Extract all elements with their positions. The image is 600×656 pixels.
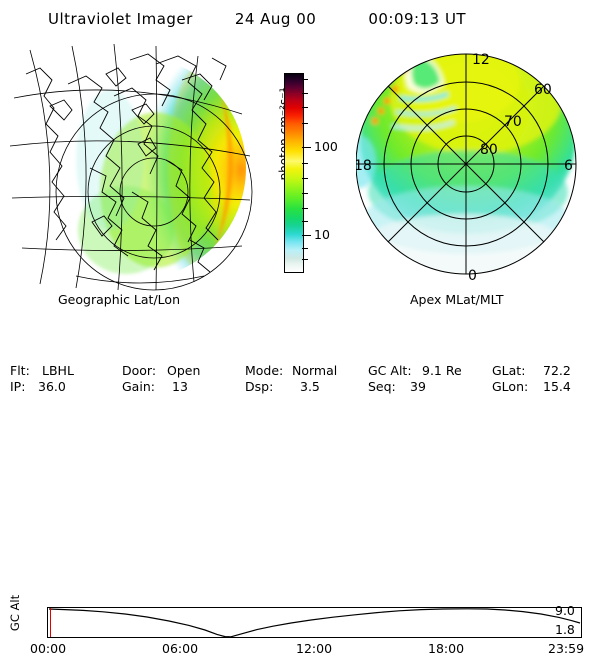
mlt-label-12: 12 [472,52,490,68]
colorbar-minor-tick [302,79,308,80]
altitude-xtick-0600: 06:00 [162,641,198,656]
status-label-gain: Gain: [122,379,155,394]
status-label-gcalt: GC Alt: [368,363,412,378]
mlt-label-0: 0 [468,268,477,284]
status-row: IP: 36.0 Gain: 13 Dsp: 3.5 Seq: 39 GLon:… [0,379,600,395]
status-value-seq: 39 [410,379,426,394]
altitude-xtick-2359: 23:59 [548,641,584,656]
colorbar-tick-10 [302,235,311,236]
status-label-flt: Flt: [10,363,30,378]
instrument-title: Ultraviolet Imager [48,10,193,28]
colorbar-minor-tick [302,163,308,164]
status-value-glat: 72.2 [543,363,571,378]
apex-polar-panel[interactable]: 12 18 6 0 60 70 80 [356,42,596,292]
status-value-door: Open [167,363,200,378]
status-row: Flt: LBHL Door: Open Mode: Normal GC Alt… [0,363,600,379]
status-label-mode: Mode: [245,363,283,378]
status-value-glon: 15.4 [543,379,571,394]
current-time-marker [50,608,51,637]
colorbar-minor-tick [302,178,308,179]
altitude-xtick-1800: 18:00 [428,641,464,656]
colorbar-minor-tick [302,93,308,94]
status-label-glat: GLat: [492,363,525,378]
colorbar-tick-label-10: 10 [314,229,330,242]
altitude-orbit-panel[interactable]: GC Alt 9.0 1.8 00:00 06:00 12:00 18:00 2… [0,300,600,358]
status-value-gcalt: 9.1 Re [422,363,462,378]
colorbar-minor-tick [302,123,308,124]
altitude-xtick-1200: 12:00 [296,641,332,656]
status-value-dsp: 3.5 [300,379,320,394]
observation-time: 00:09:13 UT [368,10,466,28]
mlat-label-80: 80 [480,142,498,158]
colorbar-tick-100 [302,147,311,148]
status-label-glon: GLon: [492,379,528,394]
colorbar-minor-tick [302,107,308,108]
mlat-label-70: 70 [504,114,522,130]
colorbar-minor-tick [302,193,308,194]
geographic-image-svg [6,40,264,292]
colorbar-minor-tick [302,259,308,260]
status-label-dsp: Dsp: [245,379,273,394]
colorbar-minor-tick [302,248,308,249]
colorbar-tick-label-100: 100 [314,141,338,154]
status-label-door: Door: [122,363,156,378]
status-label-seq: Seq: [368,379,396,394]
colorbar-minor-tick [302,221,308,222]
status-block: Flt: LBHL Door: Open Mode: Normal GC Alt… [0,363,600,397]
colorbar-minor-tick [302,208,308,209]
status-value-flt: LBHL [42,363,74,378]
altitude-xtick-0000: 00:00 [30,641,66,656]
altitude-curve [47,607,582,638]
status-value-gain: 13 [172,379,188,394]
colorbar-gradient[interactable] [284,73,304,273]
apex-polar-svg: 12 18 6 0 60 70 80 [356,42,596,292]
header-bar: Ultraviolet Imager 24 Aug 00 00:09:13 UT [0,6,600,32]
altitude-axis-label: GC Alt [8,587,22,639]
status-value-ip: 36.0 [38,379,66,394]
colorbar-group[interactable]: photon cm⁻²s⁻¹ 100 10 [262,45,354,295]
mlt-label-18: 18 [356,158,372,174]
mlt-label-6: 6 [564,158,573,174]
status-value-mode: Normal [292,363,337,378]
geographic-image-panel[interactable] [6,40,264,292]
observation-date: 24 Aug 00 [235,10,317,28]
status-label-ip: IP: [10,379,25,394]
mlat-label-60: 60 [534,82,552,98]
